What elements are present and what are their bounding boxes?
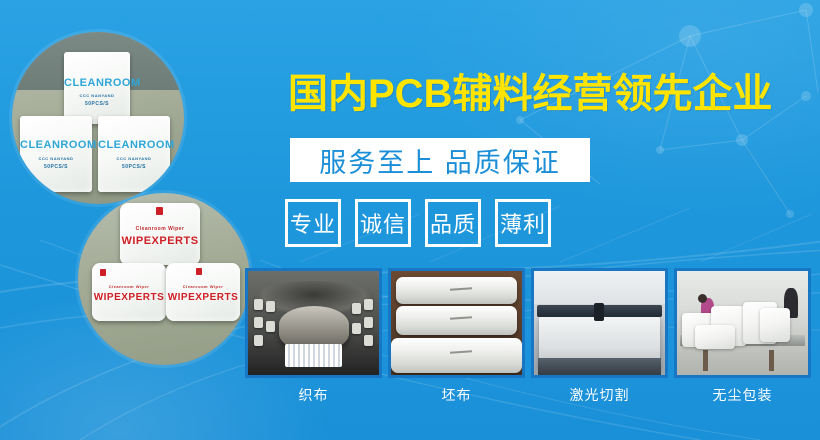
yarn-spool [364, 335, 373, 346]
worker-figure [698, 294, 707, 303]
pack-label-main: CLEANROOM [64, 78, 130, 90]
fabric-roll [396, 306, 517, 335]
yarn-spool [364, 317, 373, 328]
feature-tag-zhuanye: 专业 [285, 199, 341, 247]
wipexperts-photo-scene: Cleanroom Wiper WIPEXPERTS Cleanroom Wip… [78, 193, 250, 365]
pack-label-sub2: 50PCS/S [20, 165, 92, 170]
photo-caption: 织布 [245, 385, 382, 405]
table-leg [703, 350, 708, 371]
process-photo-cell: 织布 [245, 268, 382, 405]
wipe-bale [760, 308, 790, 342]
feature-tag-chengxin: 诚信 [355, 199, 411, 247]
roll-marking [450, 317, 472, 321]
knitted-fabric [285, 344, 343, 367]
photo-knitting-machine [245, 268, 382, 378]
wipe-pack: Cleanroom Wiper WIPEXPERTS [92, 263, 166, 321]
red-stamp [156, 207, 163, 215]
yarn-spool [254, 335, 263, 346]
roll-marking [450, 287, 472, 291]
pack-label-top: Cleanroom Wiper [166, 285, 240, 289]
pack-label-sub1: CCC NANYAND [20, 157, 92, 161]
subtitle-bar: 服务至上 品质保证 [290, 138, 590, 182]
yarn-spool [352, 303, 361, 314]
product-photo-wipexperts: Cleanroom Wiper WIPEXPERTS Cleanroom Wip… [78, 193, 250, 365]
pack-label-main: WIPEXPERTS [92, 293, 166, 304]
wipe-pack: Cleanroom Wiper WIPEXPERTS [166, 263, 240, 321]
photo-caption: 无尘包装 [674, 385, 811, 405]
pack-label-top: Cleanroom Wiper [120, 227, 200, 232]
roll-marking [450, 350, 472, 354]
feature-tag-list: 专业 诚信 品质 薄利 [285, 199, 551, 247]
photo-caption: 激光切割 [531, 385, 668, 405]
red-stamp [100, 269, 106, 276]
photo-laser-cutter [531, 268, 668, 378]
cleanroom-photo-scene: CLEANROOM CCC NANYAND 50PCS/S CLEANROOM … [12, 32, 184, 204]
pack-label-main: WIPEXPERTS [120, 236, 200, 248]
pack-label-sub2: 50PCS/S [98, 165, 170, 170]
process-photo-strip: 织布 坯布 [245, 268, 811, 405]
process-photo-cell: 坯布 [388, 268, 525, 405]
feature-tag-pinzhi: 品质 [425, 199, 481, 247]
subtitle-text: 服务至上 品质保证 [319, 141, 561, 180]
fabric-roll [391, 338, 522, 373]
workshop-wall [534, 271, 665, 304]
wipe-pack: CLEANROOM CCC NANYAND 50PCS/S [20, 116, 92, 192]
yarn-spool [352, 323, 361, 334]
pack-label-main: WIPEXPERTS [166, 293, 240, 304]
pack-label-main: CLEANROOM [20, 140, 92, 152]
wipe-pack: CLEANROOM CCC NANYAND 50PCS/S [98, 116, 170, 192]
pack-label-main: CLEANROOM [98, 140, 170, 152]
product-photo-cleanroom: CLEANROOM CCC NANYAND 50PCS/S CLEANROOM … [12, 32, 184, 204]
promotional-banner: CLEANROOM CCC NANYAND 50PCS/S CLEANROOM … [0, 0, 820, 440]
wipe-pack: Cleanroom Wiper WIPEXPERTS [120, 203, 200, 265]
photo-fabric-rolls [388, 268, 525, 378]
table-leg [769, 350, 774, 371]
wipe-bale [695, 325, 735, 349]
photo-cleanroom-packaging [674, 268, 811, 378]
yarn-spool [266, 301, 275, 312]
wipe-pack: CLEANROOM CCC NANYAND 50PCS/S [64, 52, 130, 124]
red-stamp [196, 268, 202, 275]
yarn-spool [364, 299, 373, 310]
yarn-spool [254, 317, 263, 328]
photo-caption: 坯布 [388, 385, 525, 405]
feature-tag-baoli: 薄利 [495, 199, 551, 247]
pack-label-sub1: CCC NANYAND [64, 94, 130, 98]
banner-headline: 国内PCB辅料经营领先企业 [288, 72, 788, 117]
pack-label-top: Cleanroom Wiper [92, 285, 166, 289]
fabric-roll [396, 277, 517, 304]
laser-head [594, 303, 604, 321]
pack-label-sub1: CCC NANYAND [98, 157, 170, 161]
yarn-spool [266, 321, 275, 332]
process-photo-cell: 激光切割 [531, 268, 668, 405]
pack-label-sub2: 50PCS/S [64, 102, 130, 107]
yarn-spool [254, 299, 263, 310]
machine-base [538, 358, 661, 375]
process-photo-cell: 无尘包装 [674, 268, 811, 405]
